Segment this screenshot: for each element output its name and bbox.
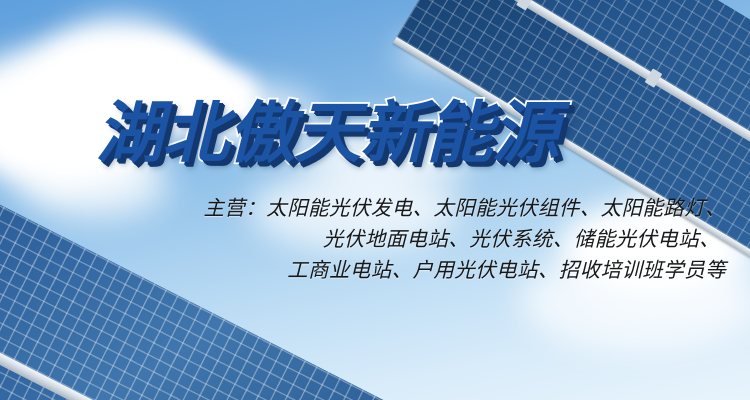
- business-scope-line-3: 工商业电站、户用光伏电站、招收培训班学员等: [204, 255, 727, 286]
- solar-company-banner: 湖北傲天新能源 主营：太阳能光伏发电、太阳能光伏组件、太阳能路灯、 光伏地面电站…: [0, 0, 750, 400]
- business-scope-line-2: 光伏地面电站、光伏系统、储能光伏电站、: [204, 224, 727, 255]
- business-scope-line-1: 主营：太阳能光伏发电、太阳能光伏组件、太阳能路灯、: [204, 193, 727, 224]
- page-title: 湖北傲天新能源: [96, 100, 558, 167]
- business-scope-text: 主营：太阳能光伏发电、太阳能光伏组件、太阳能路灯、 光伏地面电站、光伏系统、储能…: [204, 193, 727, 286]
